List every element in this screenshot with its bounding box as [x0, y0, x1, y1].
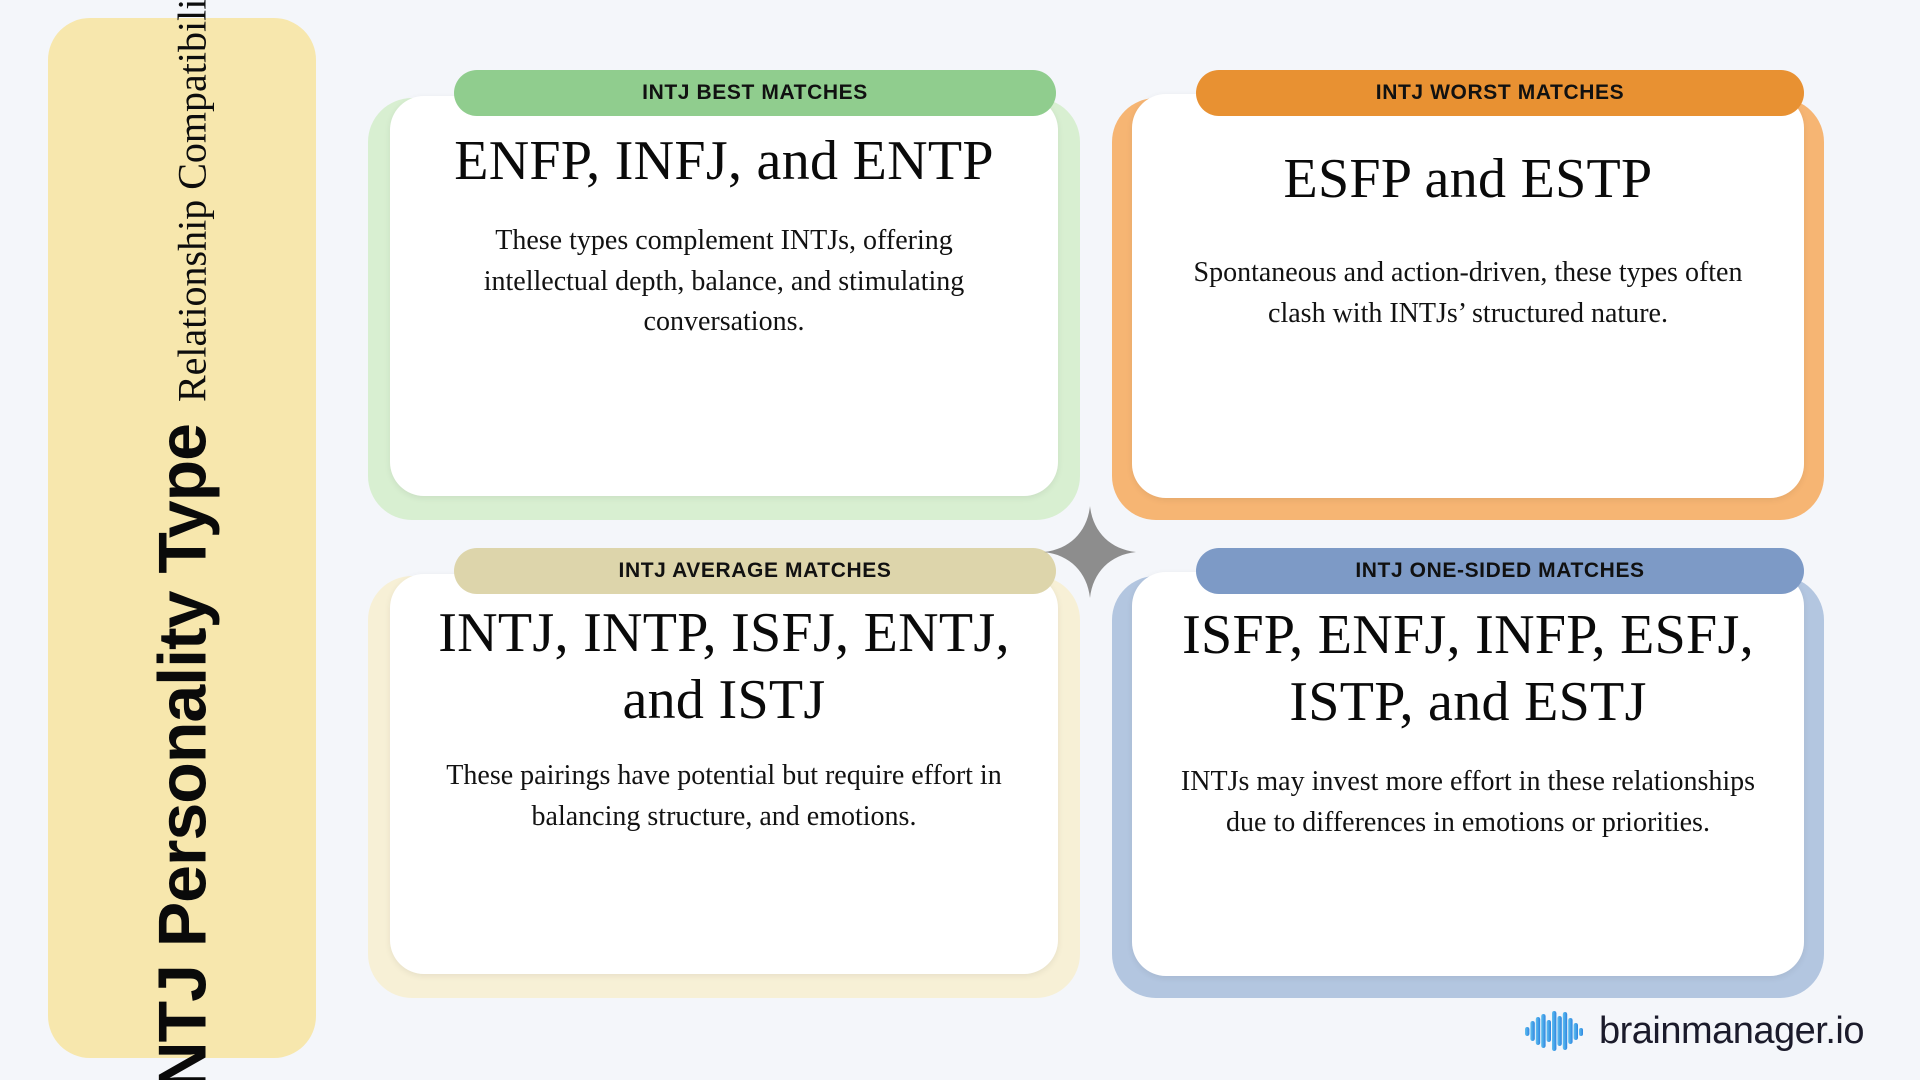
- brand-logo: brainmanager.io: [1525, 1008, 1864, 1054]
- card-description-best: These types complement INTJs, offering i…: [390, 221, 1058, 343]
- card-pill-best: INTJ BEST MATCHES: [454, 70, 1056, 116]
- card-best-matches: ENFP, INFJ, and ENTP These types complem…: [368, 70, 1080, 520]
- card-heading-worst: ESFP and ESTP: [1237, 146, 1698, 213]
- card-heading-average: INTJ, INTP, ISFJ, ENTJ, and ISTJ: [390, 600, 1058, 734]
- card-pill-worst: INTJ WORST MATCHES: [1196, 70, 1804, 116]
- card-heading-best: ENFP, INFJ, and ENTP: [408, 128, 1040, 195]
- card-body-one-sided: ISFP, ENFJ, INFP, ESFJ, ISTP, and ESTJ I…: [1132, 572, 1804, 976]
- title-panel: INTJ Personality Type Relationship Compa…: [48, 18, 316, 1058]
- title-panel-rotated-text: INTJ Personality Type Relationship Compa…: [148, 0, 216, 1080]
- four-point-sparkle-icon: [1044, 506, 1136, 598]
- page-title: INTJ Personality Type: [148, 424, 216, 1080]
- card-description-average: These pairings have potential but requir…: [390, 756, 1058, 837]
- page-subtitle: Relationship Compatibility: [172, 0, 212, 402]
- card-heading-one-sided: ISFP, ENFJ, INFP, ESFJ, ISTP, and ESTJ: [1132, 602, 1804, 736]
- audio-waveform-icon: [1525, 1008, 1583, 1054]
- card-average-matches: INTJ, INTP, ISFJ, ENTJ, and ISTJ These p…: [368, 548, 1080, 998]
- card-pill-average: INTJ AVERAGE MATCHES: [454, 548, 1056, 594]
- card-body-average: INTJ, INTP, ISFJ, ENTJ, and ISTJ These p…: [390, 574, 1058, 974]
- card-one-sided-matches: ISFP, ENFJ, INFP, ESFJ, ISTP, and ESTJ I…: [1112, 548, 1824, 998]
- card-description-one-sided: INTJs may invest more effort in these re…: [1132, 762, 1804, 843]
- card-body-worst: ESFP and ESTP Spontaneous and action-dri…: [1132, 94, 1804, 498]
- brand-name: brainmanager.io: [1599, 1010, 1864, 1053]
- card-pill-one-sided: INTJ ONE-SIDED MATCHES: [1196, 548, 1804, 594]
- card-description-worst: Spontaneous and action-driven, these typ…: [1132, 253, 1804, 334]
- card-body-best: ENFP, INFJ, and ENTP These types complem…: [390, 96, 1058, 496]
- card-worst-matches: ESFP and ESTP Spontaneous and action-dri…: [1112, 70, 1824, 520]
